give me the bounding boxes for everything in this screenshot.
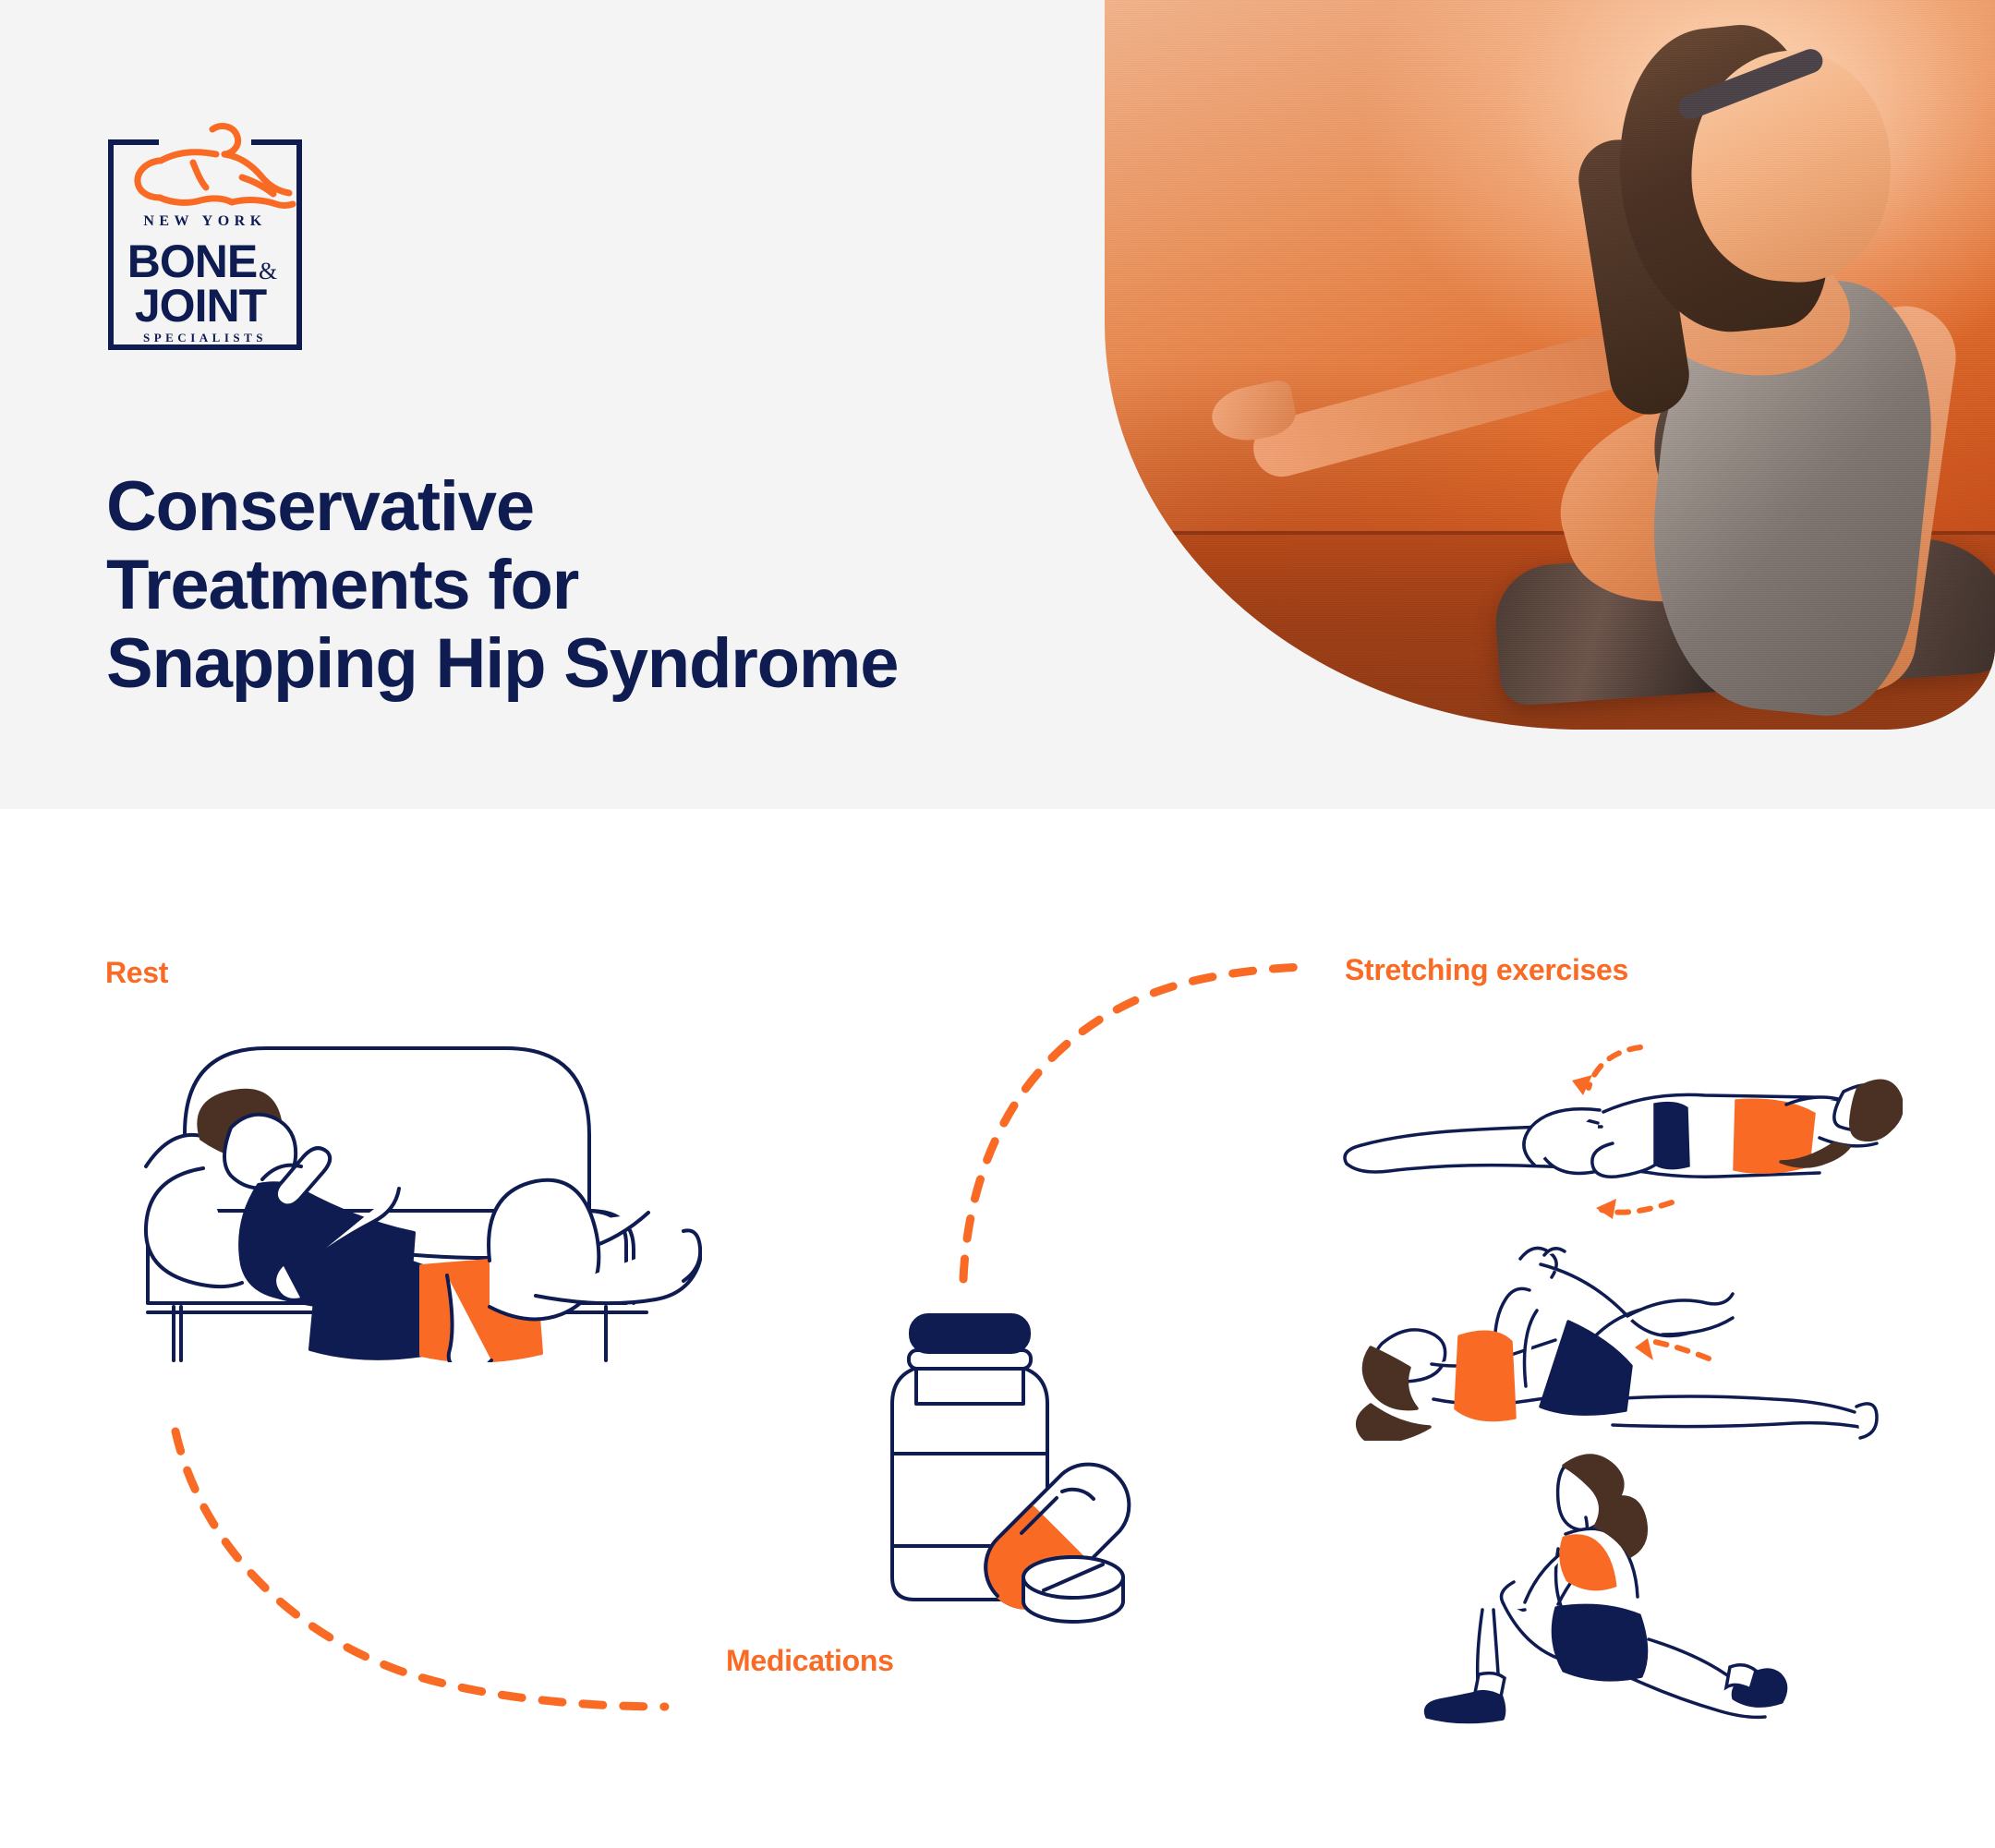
logo-specialists-text: SPECIALISTS <box>143 331 267 344</box>
illustration-stretch-knee-to-chest <box>1330 1224 1903 1441</box>
page-title: Conservative Treatments for Snapping Hip… <box>106 467 1085 703</box>
title-line-1: Conservative <box>106 467 1085 546</box>
label-rest: Rest <box>105 956 168 990</box>
illustration-medications <box>859 1284 1136 1625</box>
hero-photo-background <box>1105 0 1995 730</box>
illustration-stretch-side-lying <box>1330 1034 1903 1224</box>
infographic-page: NEW YORK BONE & JOINT SPECIALISTS Conser… <box>0 0 1995 1848</box>
logo-word-joint: JOINT <box>135 280 267 332</box>
illustration-stretch-lunge <box>1418 1445 1796 1741</box>
photo-grain-overlay <box>1105 0 1995 730</box>
hero-photo <box>1105 0 1995 730</box>
header-band: NEW YORK BONE & JOINT SPECIALISTS Conser… <box>0 0 1995 809</box>
logo-city-text: NEW YORK <box>143 213 266 229</box>
illustration-rest-couch <box>92 1030 702 1362</box>
title-line-2: Treatments for <box>106 546 1085 624</box>
label-medications: Medications <box>726 1644 894 1678</box>
arrow-meds-to-stretching <box>963 967 1304 1279</box>
brand-logo[interactable]: NEW YORK BONE & JOINT SPECIALISTS <box>103 113 307 355</box>
title-line-3: Snapping Hip Syndrome <box>106 624 1085 703</box>
arrow-rest-to-meds <box>175 1431 665 1707</box>
label-stretching-exercises: Stretching exercises <box>1345 953 1628 987</box>
